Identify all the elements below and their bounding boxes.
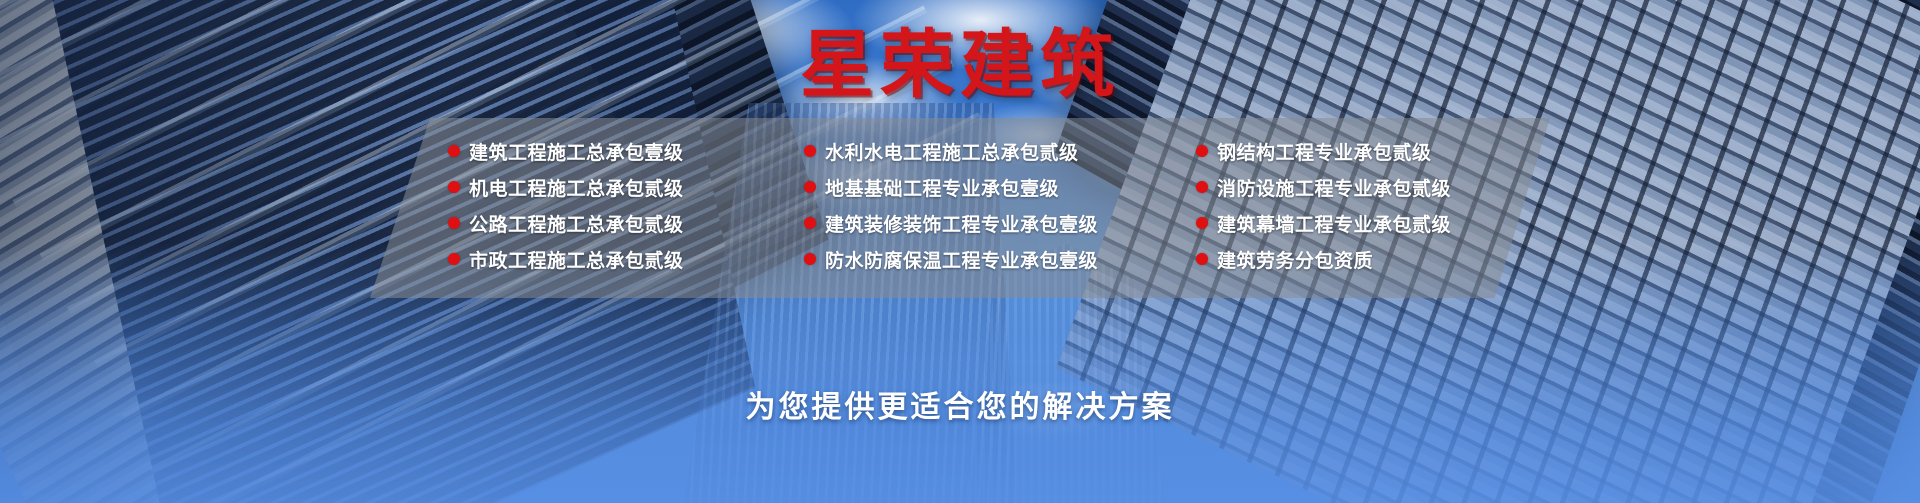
bullet-dot-icon [1196,253,1208,265]
qualification-label: 建筑幕墙工程专业承包贰级 [1217,210,1451,237]
qualification-item: 建筑幕墙工程专业承包贰级 [1196,212,1526,234]
qualifications-column-3: 钢结构工程专业承包贰级 消防设施工程专业承包贰级 建筑幕墙工程专业承包贰级 建筑… [1196,140,1526,298]
qualification-item: 市政工程施工总承包贰级 [448,248,778,270]
qualification-label: 市政工程施工总承包贰级 [469,246,684,273]
qualification-item: 消防设施工程专业承包贰级 [1196,176,1526,198]
bullet-dot-icon [1196,217,1208,229]
bullet-dot-icon [448,145,460,157]
bullet-dot-icon [448,253,460,265]
qualification-item: 公路工程施工总承包贰级 [448,212,778,234]
bullet-dot-icon [804,181,816,193]
qualification-label: 防水防腐保温工程专业承包壹级 [825,246,1098,273]
qualification-label: 建筑工程施工总承包壹级 [469,138,684,165]
qualification-label: 机电工程施工总承包贰级 [469,174,684,201]
qualification-label: 消防设施工程专业承包贰级 [1217,174,1451,201]
qualification-label: 钢结构工程专业承包贰级 [1217,138,1432,165]
qualification-label: 建筑装修装饰工程专业承包壹级 [825,210,1098,237]
qualification-label: 建筑劳务分包资质 [1217,246,1373,273]
qualification-label: 地基基础工程专业承包壹级 [825,174,1059,201]
bullet-dot-icon [804,217,816,229]
qualification-item: 机电工程施工总承包贰级 [448,176,778,198]
bullet-dot-icon [1196,145,1208,157]
qualification-item: 建筑装修装饰工程专业承包壹级 [804,212,1164,234]
company-title: 星荣建筑 [0,26,1920,104]
bullet-dot-icon [1196,181,1208,193]
bullet-dot-icon [804,145,816,157]
banner-tagline: 为您提供更适合您的解决方案 [0,382,1920,426]
banner-stage: 星荣建筑 建筑工程施工总承包壹级 机电工程施工总承包贰级 公路工程施工总承包贰级 [0,0,1920,503]
qualification-item: 钢结构工程专业承包贰级 [1196,140,1526,162]
qualifications-columns: 建筑工程施工总承包壹级 机电工程施工总承包贰级 公路工程施工总承包贰级 市政工程… [370,118,1550,298]
qualification-item: 建筑劳务分包资质 [1196,248,1526,270]
qualification-item: 地基基础工程专业承包壹级 [804,176,1164,198]
qualification-item: 防水防腐保温工程专业承包壹级 [804,248,1164,270]
qualification-item: 建筑工程施工总承包壹级 [448,140,778,162]
qualifications-column-2: 水利水电工程施工总承包贰级 地基基础工程专业承包壹级 建筑装修装饰工程专业承包壹… [804,140,1164,298]
bullet-dot-icon [448,181,460,193]
qualification-label: 公路工程施工总承包贰级 [469,210,684,237]
qualifications-column-1: 建筑工程施工总承包壹级 机电工程施工总承包贰级 公路工程施工总承包贰级 市政工程… [448,140,778,298]
bullet-dot-icon [804,253,816,265]
qualification-item: 水利水电工程施工总承包贰级 [804,140,1164,162]
qualifications-panel: 建筑工程施工总承包壹级 机电工程施工总承包贰级 公路工程施工总承包贰级 市政工程… [370,118,1550,298]
bullet-dot-icon [448,217,460,229]
qualification-label: 水利水电工程施工总承包贰级 [825,138,1079,165]
